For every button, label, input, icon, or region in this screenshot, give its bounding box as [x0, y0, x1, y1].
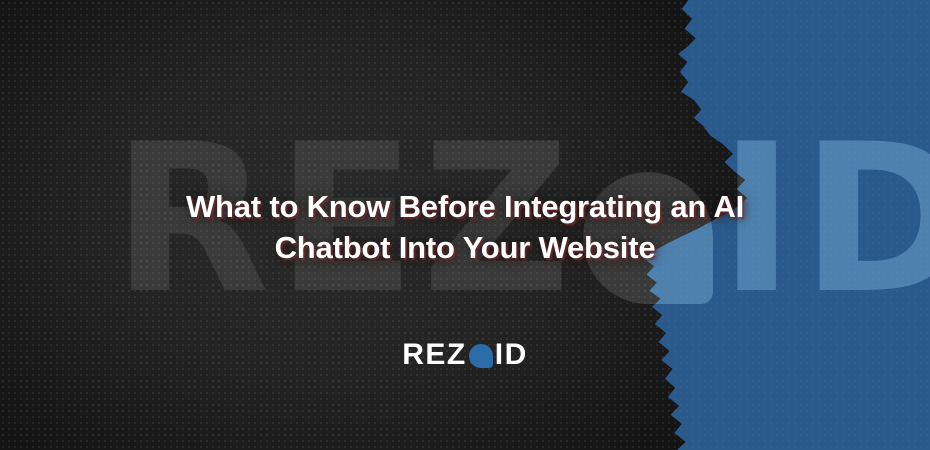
brand-logo: REZID [0, 340, 930, 370]
brand-logo-part-rez: REZ [402, 340, 467, 370]
banner-headline: What to Know Before Integrating an AI Ch… [0, 186, 930, 268]
brand-logo-a-icon [469, 344, 493, 368]
brand-logo-inner: REZID [402, 340, 528, 370]
blog-header-banner: REZID REZID What to Know Before Integrat… [0, 0, 930, 450]
brand-logo-part-id: ID [495, 340, 528, 370]
